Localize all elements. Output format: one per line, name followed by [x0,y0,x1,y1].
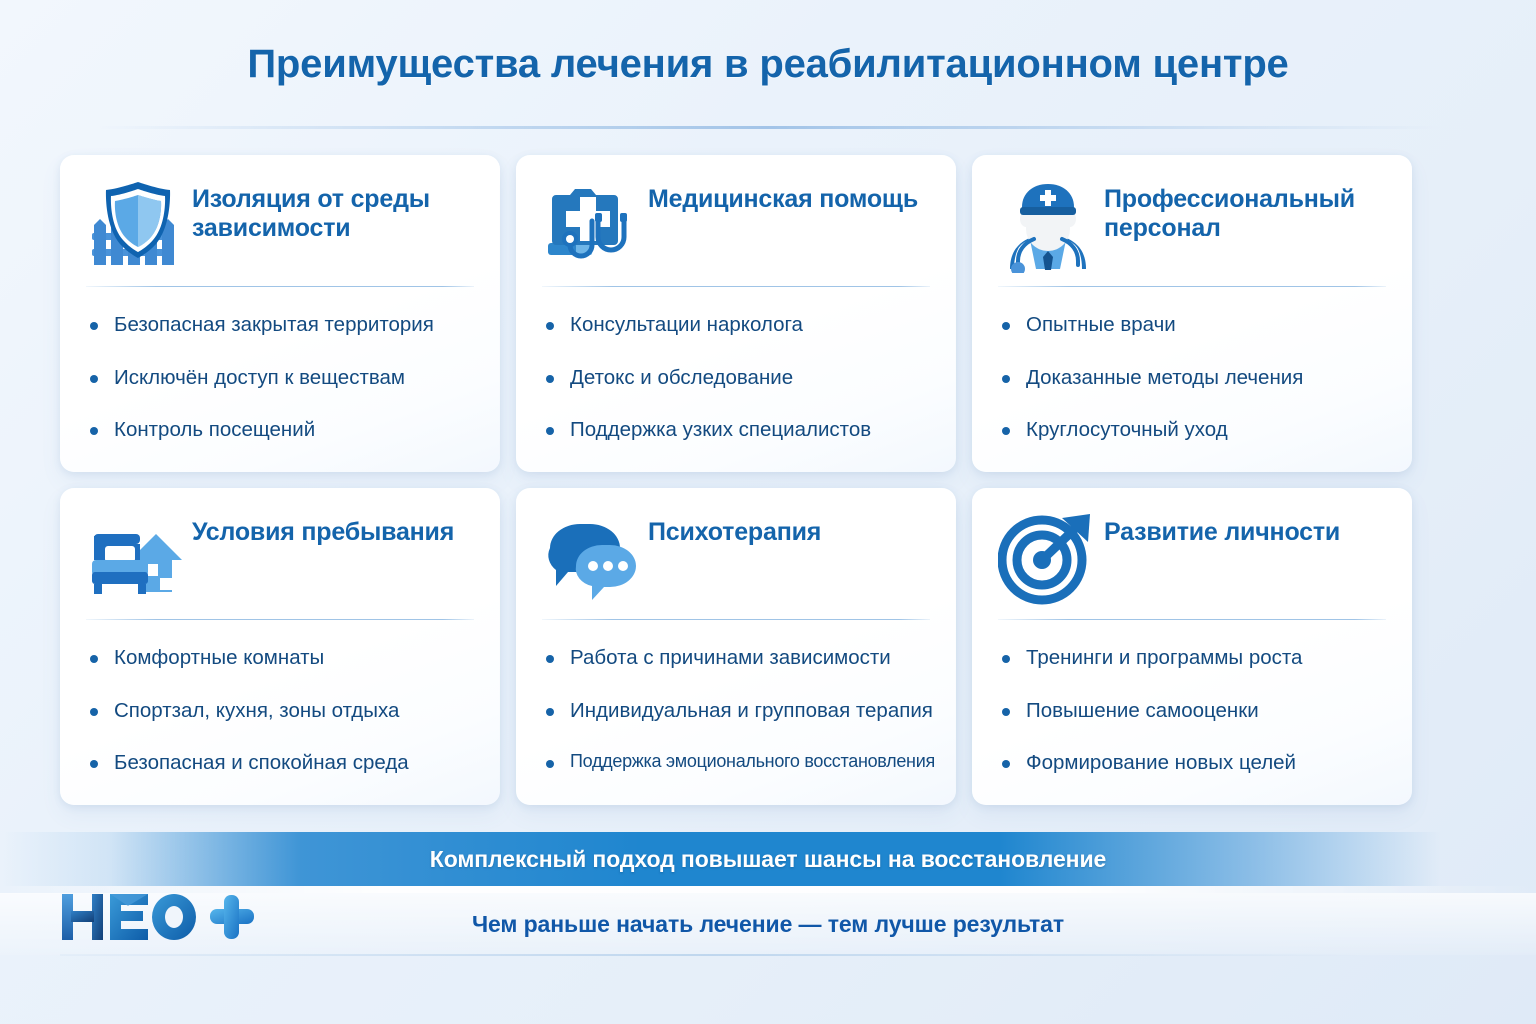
card-title: Профессиональный персонал [1104,177,1386,242]
summary-banner: Комплексный подход повышает шансы на вос… [0,832,1536,886]
bullet-dot-icon [546,375,554,383]
list-item-label: Работа с причинами зависимости [570,646,891,669]
benefit-list: Опытные врачи Доказанные методы лечения … [972,287,1412,443]
shield-fence-icon [86,177,186,273]
benefit-list: Работа с причинами зависимости Индивидуа… [516,620,956,773]
list-item-label: Спортзал, кухня, зоны отдыха [114,699,399,722]
footer-divider [60,954,1360,956]
list-item: Формирование новых целей [1002,751,1386,776]
bullet-dot-icon [90,760,98,768]
list-item: Опытные врачи [1002,313,1386,338]
list-item: Детокс и обследование [546,366,930,391]
list-item-label: Безопасная закрытая территория [114,313,434,336]
benefit-card-living-conditions[interactable]: Условия пребывания Комфортные комнаты Сп… [60,488,500,805]
bullet-dot-icon [546,322,554,330]
list-item: Круглосуточный уход [1002,418,1386,443]
summary-banner-text: Комплексный подход повышает шансы на вос… [430,846,1106,873]
card-title-divider [86,619,474,620]
list-item: Исключён доступ к веществам [90,366,474,391]
card-header: Условия пребывания [60,488,500,620]
list-item-label: Доказанные методы лечения [1026,366,1303,389]
list-item: Контроль посещений [90,418,474,443]
page-header: Преимущества лечения в реабилитационном … [0,0,1536,128]
list-item-label: Круглосуточный уход [1026,418,1228,441]
benefit-list: Безопасная закрытая территория Исключён … [60,287,500,443]
card-title: Условия пребывания [192,510,454,547]
list-item-label: Индивидуальная и групповая терапия [570,699,933,722]
card-header: Развитие личности [972,488,1412,620]
list-item: Безопасная закрытая территория [90,313,474,338]
bullet-dot-icon [546,760,554,768]
bullet-dot-icon [1002,427,1010,435]
card-title: Развитие личности [1104,510,1340,547]
target-arrow-icon [998,510,1098,606]
list-item-label: Опытные врачи [1026,313,1176,336]
card-title-divider [542,286,930,287]
card-title-divider [998,619,1386,620]
benefit-list: Консультации нарколога Детокс и обследов… [516,287,956,443]
bullet-dot-icon [546,427,554,435]
bullet-dot-icon [90,322,98,330]
bullet-dot-icon [1002,760,1010,768]
medical-bag-stethoscope-icon [542,177,642,273]
list-item: Спортзал, кухня, зоны отдыха [90,699,474,724]
list-item: Работа с причинами зависимости [546,646,930,671]
list-item-label: Поддержка эмоционального восстановления [570,751,935,771]
bullet-dot-icon [546,655,554,663]
benefit-card-personal-growth[interactable]: Развитие личности Тренинги и программы р… [972,488,1412,805]
list-item: Доказанные методы лечения [1002,366,1386,391]
list-item-label: Контроль посещений [114,418,315,441]
benefit-list: Комфортные комнаты Спортзал, кухня, зоны… [60,620,500,776]
list-item-label: Тренинги и программы роста [1026,646,1302,669]
page-title: Преимущества лечения в реабилитационном … [247,42,1288,87]
title-divider [96,126,1440,129]
card-title-divider [542,619,930,620]
list-item: Консультации нарколога [546,313,930,338]
card-title-divider [86,286,474,287]
logo-mark-icon [58,884,258,950]
benefit-card-medical-help[interactable]: Медицинская помощь Консультации нарколог… [516,155,956,472]
benefits-grid: Изоляция от среды зависимости Безопасная… [60,155,1452,805]
card-header: Изоляция от среды зависимости [60,155,500,287]
bullet-dot-icon [90,427,98,435]
list-item-label: Детокс и обследование [570,366,793,389]
list-item-label: Повышение самооценки [1026,699,1259,722]
benefit-card-isolation[interactable]: Изоляция от среды зависимости Безопасная… [60,155,500,472]
speech-bubbles-icon [542,510,642,606]
neo-plus-logo[interactable] [58,884,258,950]
list-item: Поддержка узких специалистов [546,418,930,443]
list-item-label: Формирование новых целей [1026,751,1296,774]
list-item: Комфортные комнаты [90,646,474,671]
bullet-dot-icon [1002,708,1010,716]
bed-house-icon [86,510,186,606]
card-title: Изоляция от среды зависимости [192,177,474,242]
list-item: Повышение самооценки [1002,699,1386,724]
list-item: Тренинги и программы роста [1002,646,1386,671]
bullet-dot-icon [546,708,554,716]
list-item-label: Исключён доступ к веществам [114,366,405,389]
card-header: Профессиональный персонал [972,155,1412,287]
benefit-list: Тренинги и программы роста Повышение сам… [972,620,1412,776]
list-item-label: Консультации нарколога [570,313,803,336]
bullet-dot-icon [1002,322,1010,330]
bullet-dot-icon [1002,655,1010,663]
card-title: Медицинская помощь [648,177,918,214]
bullet-dot-icon [90,708,98,716]
list-item-label: Комфортные комнаты [114,646,324,669]
card-header: Медицинская помощь [516,155,956,287]
card-title: Психотерапия [648,510,821,547]
list-item-label: Поддержка узких специалистов [570,418,871,441]
bullet-dot-icon [90,375,98,383]
card-header: Психотерапия [516,488,956,620]
benefit-card-psychotherapy[interactable]: Психотерапия Работа с причинами зависимо… [516,488,956,805]
bullet-dot-icon [1002,375,1010,383]
doctor-icon [998,177,1098,273]
list-item: Поддержка эмоционального восстановления [546,751,930,773]
list-item: Индивидуальная и групповая терапия [546,699,930,724]
card-title-divider [998,286,1386,287]
bullet-dot-icon [90,655,98,663]
benefit-card-professional-staff[interactable]: Профессиональный персонал Опытные врачи … [972,155,1412,472]
list-item-label: Безопасная и спокойная среда [114,751,409,774]
list-item: Безопасная и спокойная среда [90,751,474,776]
